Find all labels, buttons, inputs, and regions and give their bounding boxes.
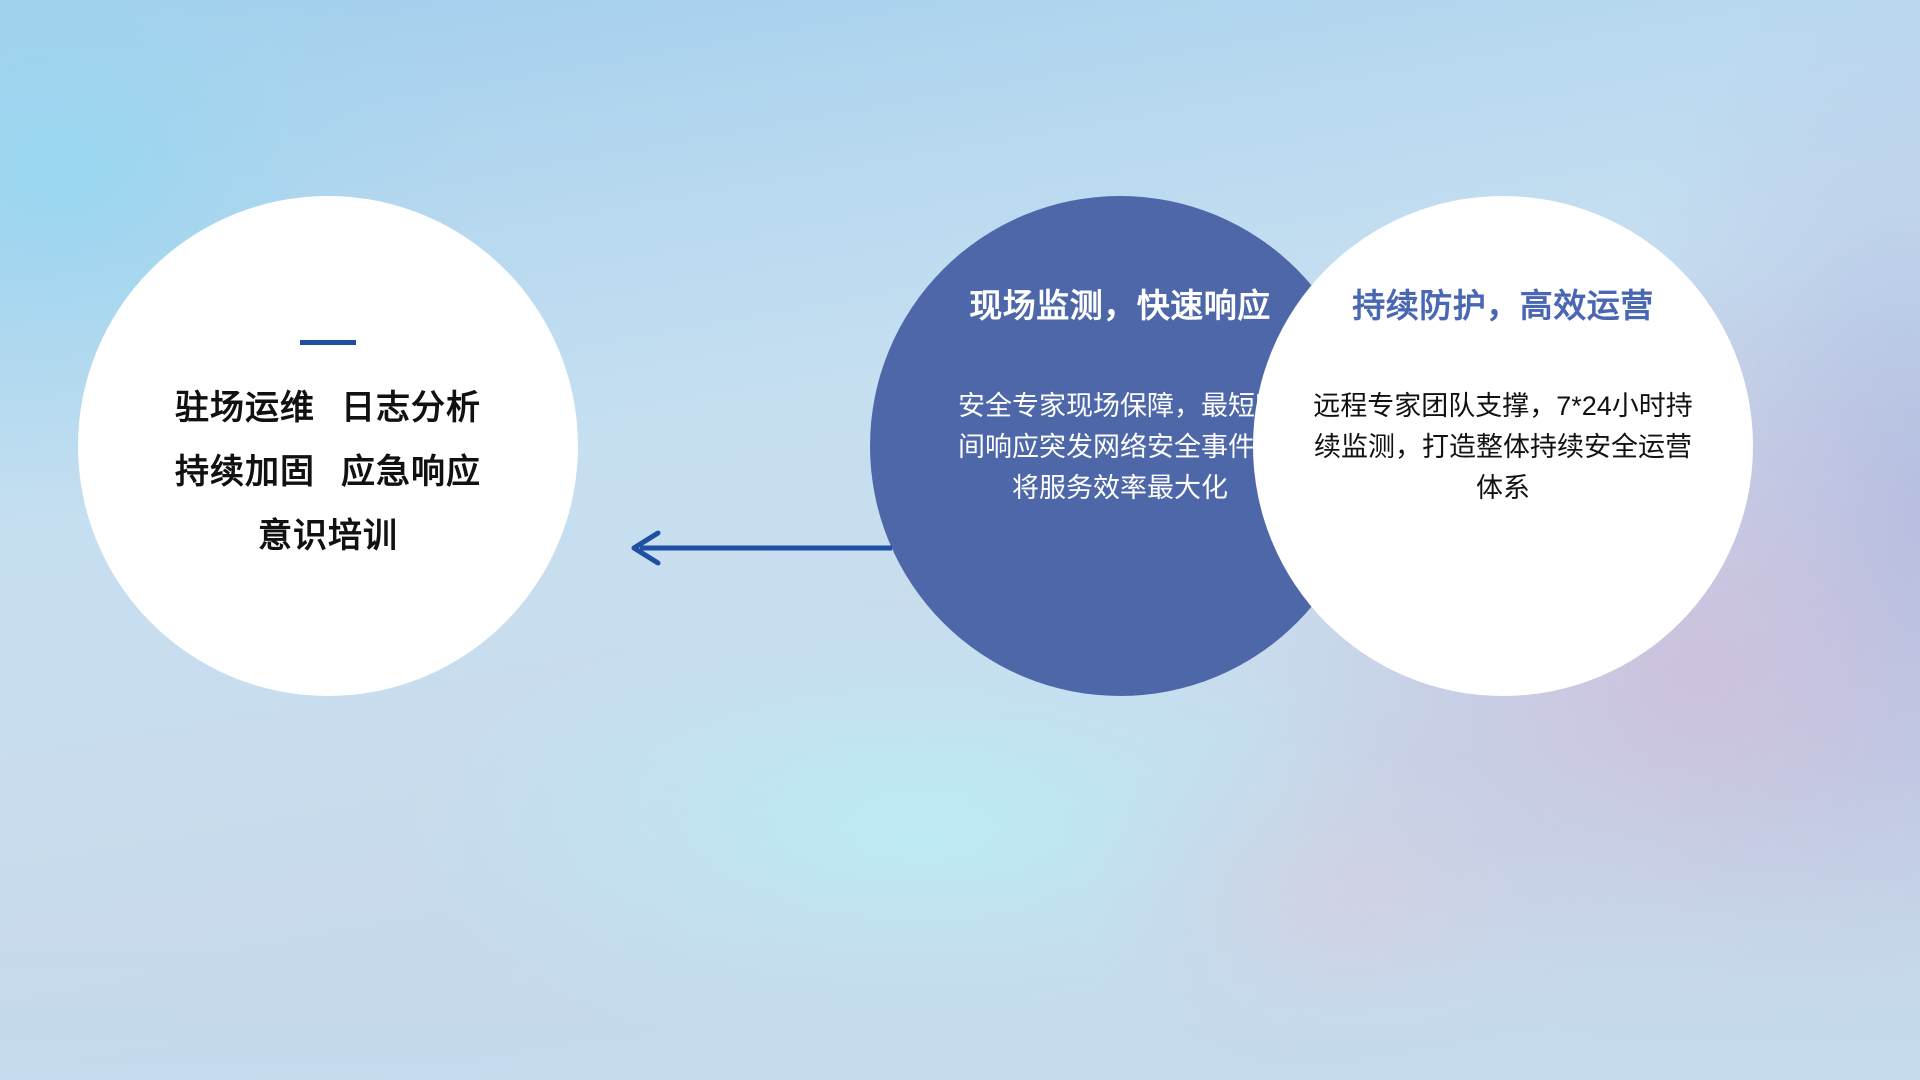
left-circle-line-2: 持续加固应急响应	[175, 455, 481, 489]
middle-circle-title: 现场监测，快速响应	[969, 288, 1271, 324]
left-circle-keyword-chixujiagu: 持续加固	[175, 453, 315, 491]
right-circle-body: 远程专家团队支撑，7*24小时持续监测，打造整体持续安全运营体系	[1303, 386, 1703, 509]
left-circle-line-1: 驻场运维日志分析	[175, 391, 481, 425]
left-circle-content: 驻场运维日志分析 持续加固应急响应 意识培训	[78, 196, 578, 696]
right-circle-content: 持续防护，高效运营 远程专家团队支撑，7*24小时持续监测，打造整体持续安全运营…	[1253, 196, 1753, 696]
left-circle-keyword-yishipeixun: 意识培训	[258, 517, 398, 555]
left-pointing-arrow-icon	[600, 520, 900, 576]
left-circle-keyword-zhuchangyunwei: 驻场运维	[175, 389, 315, 427]
left-circle-keyword-yingjixiangying: 应急响应	[341, 453, 481, 491]
slide-canvas: 驻场运维日志分析 持续加固应急响应 意识培训 现场监测，快速响应 安全专家现场保…	[0, 0, 1920, 1080]
left-circle-line-3: 意识培训	[258, 519, 398, 553]
left-circle-divider-rule	[300, 340, 356, 345]
right-circle-title: 持续防护，高效运营	[1352, 288, 1654, 324]
left-circle-keyword-rizhifenxi: 日志分析	[341, 389, 481, 427]
middle-circle-body: 安全专家现场保障，最短时间响应突发网络安全事件，将服务效率最大化	[955, 386, 1285, 509]
